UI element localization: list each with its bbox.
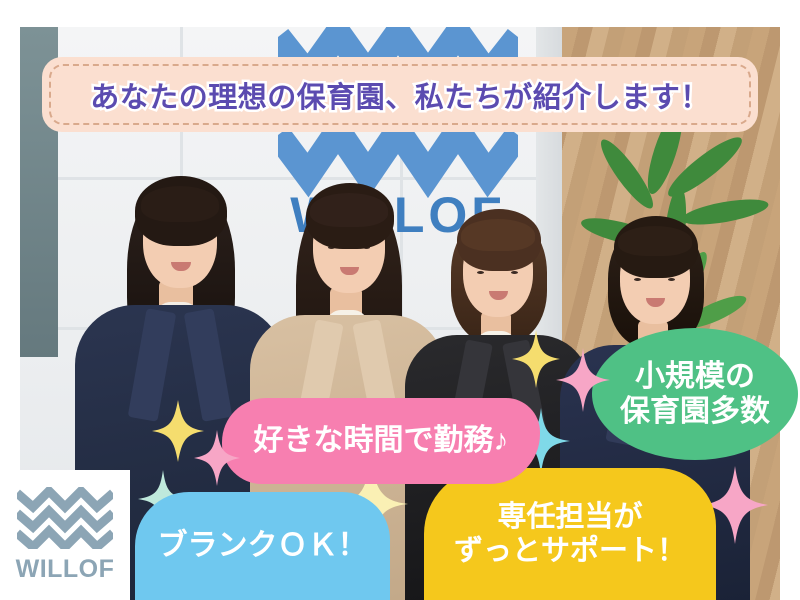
mouth: [489, 291, 508, 300]
sparkle-pink-2: [556, 348, 610, 412]
zigzag-chevron-mark-icon: [17, 487, 113, 549]
bubble-work-hours-text: 好きな時間で勤務♪: [254, 423, 509, 458]
bangs: [141, 186, 219, 222]
sparkle-yellow-2: [512, 330, 560, 388]
bubble-small-nurseries: 小規模の 保育園多数: [592, 328, 798, 460]
bubble-blank-ok: ブランクＯＫ！: [135, 492, 390, 600]
bubble-dedicated-support-line1: 専任担当が: [454, 500, 686, 534]
bubble-small-nurseries-line1: 小規模の: [620, 359, 770, 394]
eye: [511, 271, 518, 274]
mouth: [646, 298, 665, 307]
bubble-work-hours: 好きな時間で勤務♪: [222, 398, 540, 484]
willof-logo-badge: WILLOF: [0, 470, 130, 600]
headline-banner: あなたの理想の保育園、私たちが紹介します！: [42, 57, 758, 132]
sparkle-pink-1: [194, 430, 240, 486]
eye: [668, 278, 675, 281]
bubble-dedicated-support-line2: ずっとサポート！: [454, 534, 686, 568]
eye: [477, 271, 484, 274]
bubble-dedicated-support: 専任担当が ずっとサポート！: [424, 468, 716, 600]
advertisement-banner: WILLOF: [0, 0, 800, 600]
bangs: [310, 193, 388, 227]
headline-text: あなたの理想の保育園、私たちが紹介します！: [42, 57, 758, 132]
mouth: [171, 262, 191, 271]
bangs: [618, 226, 692, 256]
bangs: [461, 219, 535, 251]
willof-wordmark: WILLOF: [16, 555, 115, 584]
bubble-blank-ok-text: ブランクＯＫ！: [158, 528, 368, 563]
mouth: [340, 267, 359, 275]
bubble-small-nurseries-line2: 保育園多数: [620, 394, 770, 429]
eye: [634, 278, 641, 281]
